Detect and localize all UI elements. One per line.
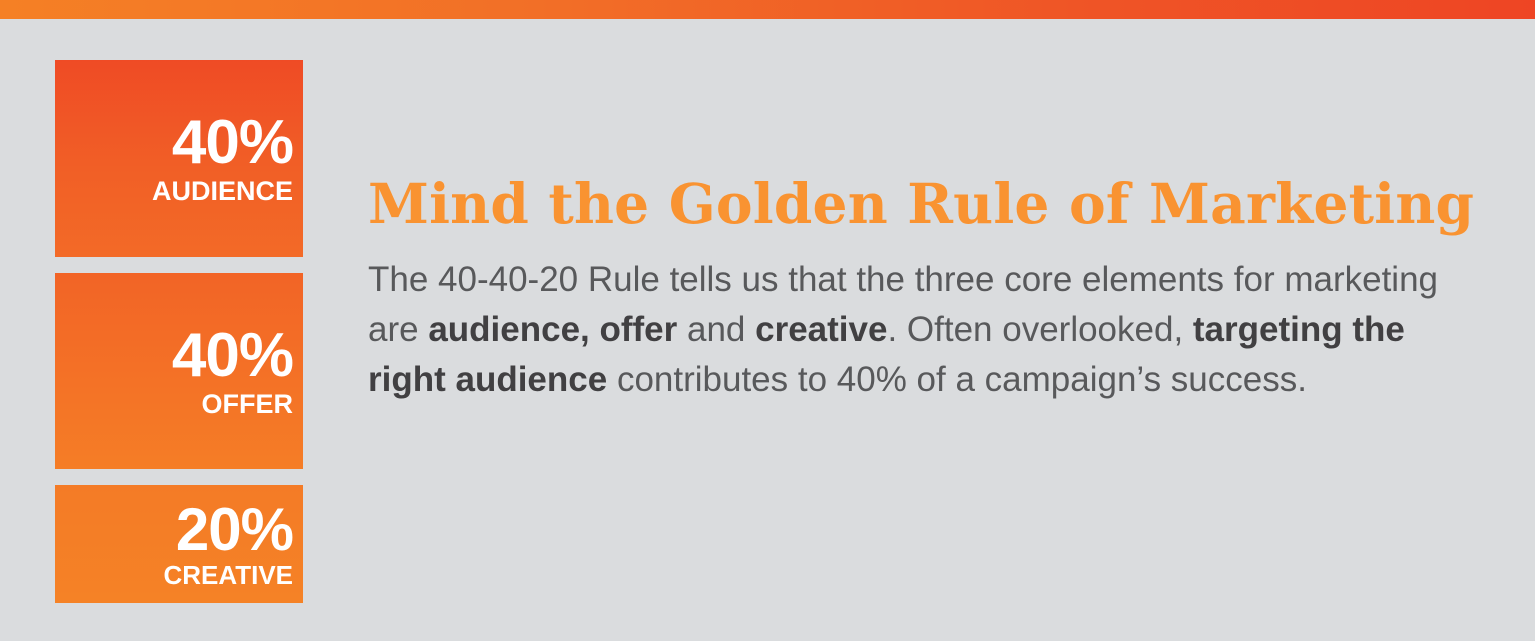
stat-label-offer: OFFER — [202, 391, 294, 418]
stat-percent-audience: 40% — [172, 112, 293, 174]
stats-column: 40% AUDIENCE 40% OFFER 20% CREATIVE — [55, 60, 303, 603]
body-text: contributes to 40% of a campaign’s succe… — [607, 360, 1307, 399]
body-emphasis: audience, offer — [428, 310, 677, 349]
stat-box-audience: 40% AUDIENCE — [55, 60, 303, 257]
stat-percent-offer: 40% — [172, 325, 293, 387]
page-title: Mind the Golden Rule of Marketing — [368, 174, 1478, 233]
infographic-canvas: 40% AUDIENCE 40% OFFER 20% CREATIVE Mind… — [0, 19, 1535, 641]
body-paragraph: The 40-40-20 Rule tells us that the thre… — [368, 255, 1463, 404]
stat-label-creative: CREATIVE — [163, 562, 293, 588]
body-text: . Often overlooked, — [887, 310, 1192, 349]
stat-box-creative: 20% CREATIVE — [55, 485, 303, 603]
text-column: Mind the Golden Rule of Marketing The 40… — [368, 174, 1478, 404]
stat-box-offer: 40% OFFER — [55, 273, 303, 469]
stat-percent-creative: 20% — [176, 500, 293, 560]
stat-label-audience: AUDIENCE — [152, 178, 293, 205]
body-text: and — [677, 310, 755, 349]
top-accent-bar — [0, 0, 1535, 19]
body-emphasis: creative — [755, 310, 887, 349]
